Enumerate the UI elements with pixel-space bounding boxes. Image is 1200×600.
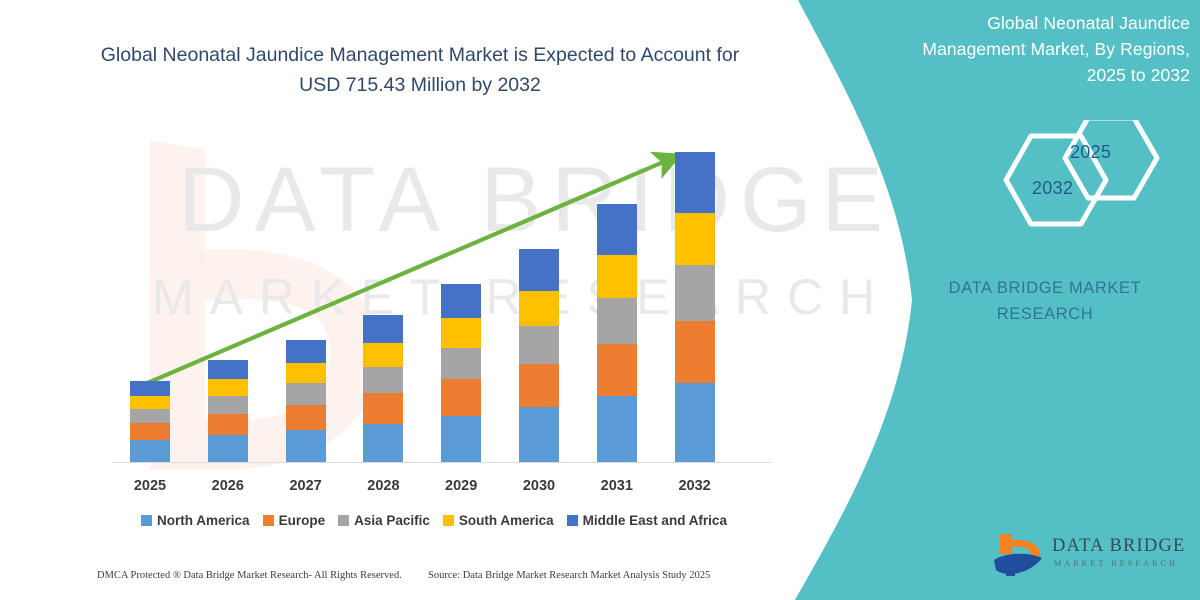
bar-segment-middle-east-and-africa xyxy=(363,315,403,343)
bar-segment-north-america xyxy=(130,440,170,462)
legend-label-asia-pacific: Asia Pacific xyxy=(354,513,430,528)
legend-item-asia-pacific[interactable]: Asia Pacific xyxy=(338,513,430,528)
legend-item-south-america[interactable]: South America xyxy=(443,513,554,528)
x-axis-label-2026: 2026 xyxy=(193,478,263,494)
bar-segment-asia-pacific xyxy=(208,396,248,414)
bar-segment-north-america xyxy=(519,407,559,462)
bar-segment-europe xyxy=(441,379,481,416)
hexagon-start-year-label: 2025 xyxy=(1070,142,1111,163)
legend-item-north-america[interactable]: North America xyxy=(141,513,250,528)
bar-segment-south-america xyxy=(208,379,248,396)
bar-segment-asia-pacific xyxy=(130,409,170,423)
bar-segment-asia-pacific xyxy=(597,298,637,344)
chart-plot-area: 20252026202720282029203020312032 xyxy=(0,0,800,600)
x-axis-label-2028: 2028 xyxy=(348,478,418,494)
bar-segment-middle-east-and-africa xyxy=(208,360,248,379)
legend-label-middle-east-and-africa: Middle East and Africa xyxy=(583,513,727,528)
legend-swatch-asia-pacific xyxy=(338,515,349,526)
bar-segment-europe xyxy=(597,344,637,396)
bar-2031 xyxy=(597,204,637,462)
bar-segment-north-america xyxy=(286,430,326,462)
legend-swatch-europe xyxy=(263,515,274,526)
bar-segment-north-america xyxy=(675,383,715,462)
legend-swatch-north-america xyxy=(141,515,152,526)
bar-segment-europe xyxy=(286,405,326,430)
data-bridge-logo: DATA BRIDGE MARKET RESEARCH xyxy=(990,530,1190,586)
bar-segment-asia-pacific xyxy=(286,383,326,405)
legend-swatch-south-america xyxy=(443,515,454,526)
bar-segment-south-america xyxy=(675,213,715,265)
x-axis-label-2025: 2025 xyxy=(115,478,185,494)
bar-segment-middle-east-and-africa xyxy=(519,249,559,291)
x-axis-label-2027: 2027 xyxy=(271,478,341,494)
panel-content: Global Neonatal Jaundice Management Mark… xyxy=(900,0,1200,600)
bar-segment-north-america xyxy=(441,416,481,462)
bar-segment-europe xyxy=(208,414,248,436)
bar-2025 xyxy=(130,381,170,462)
x-axis-label-2030: 2030 xyxy=(504,478,574,494)
bar-segment-asia-pacific xyxy=(675,265,715,321)
bar-segment-north-america xyxy=(597,396,637,462)
infographic-canvas: DATA BRIDGE MARKET RESEARCH Global Neona… xyxy=(0,0,1200,600)
logo-name: DATA BRIDGE xyxy=(1052,536,1186,557)
bar-segment-north-america xyxy=(208,435,248,462)
bar-segment-north-america xyxy=(363,424,403,462)
chart-legend: North AmericaEuropeAsia PacificSouth Ame… xyxy=(104,513,764,528)
legend-swatch-middle-east-and-africa xyxy=(567,515,578,526)
bar-segment-middle-east-and-africa xyxy=(286,340,326,363)
bar-segment-south-america xyxy=(363,343,403,367)
bar-segment-asia-pacific xyxy=(441,348,481,380)
legend-item-europe[interactable]: Europe xyxy=(263,513,326,528)
bar-2028 xyxy=(363,315,403,462)
bar-segment-south-america xyxy=(597,255,637,298)
bar-segment-middle-east-and-africa xyxy=(441,284,481,318)
bar-2026 xyxy=(208,360,248,462)
bar-segment-south-america xyxy=(130,396,170,409)
logo-mark-icon xyxy=(990,530,1048,582)
bar-segment-south-america xyxy=(286,363,326,383)
bar-segment-europe xyxy=(675,321,715,383)
x-axis-label-2031: 2031 xyxy=(582,478,652,494)
bar-segment-europe xyxy=(363,393,403,423)
bar-segment-middle-east-and-africa xyxy=(675,152,715,213)
bar-segment-europe xyxy=(519,364,559,407)
bar-segment-south-america xyxy=(441,318,481,347)
bar-segment-asia-pacific xyxy=(363,367,403,394)
legend-label-north-america: North America xyxy=(157,513,250,528)
bar-2029 xyxy=(441,284,481,462)
footer-copyright: DMCA Protected ® Data Bridge Market Rese… xyxy=(97,570,402,581)
panel-title: Global Neonatal Jaundice Management Mark… xyxy=(900,10,1190,88)
footer-source: Source: Data Bridge Market Research Mark… xyxy=(428,570,710,581)
panel-brand-text: DATA BRIDGE MARKET RESEARCH xyxy=(900,275,1190,327)
bar-2030 xyxy=(519,249,559,462)
logo-tagline: MARKET RESEARCH xyxy=(1054,559,1178,568)
legend-item-middle-east-and-africa[interactable]: Middle East and Africa xyxy=(567,513,727,528)
bar-2027 xyxy=(286,340,326,462)
x-axis-label-2029: 2029 xyxy=(426,478,496,494)
bar-segment-middle-east-and-africa xyxy=(597,204,637,255)
bar-2032 xyxy=(675,152,715,462)
bar-segment-middle-east-and-africa xyxy=(130,381,170,396)
bar-segment-asia-pacific xyxy=(519,326,559,364)
x-axis-label-2032: 2032 xyxy=(660,478,730,494)
legend-label-south-america: South America xyxy=(459,513,554,528)
bar-segment-south-america xyxy=(519,291,559,327)
bar-segment-europe xyxy=(130,423,170,441)
hexagon-end-year-label: 2032 xyxy=(1032,178,1073,199)
legend-label-europe: Europe xyxy=(279,513,326,528)
